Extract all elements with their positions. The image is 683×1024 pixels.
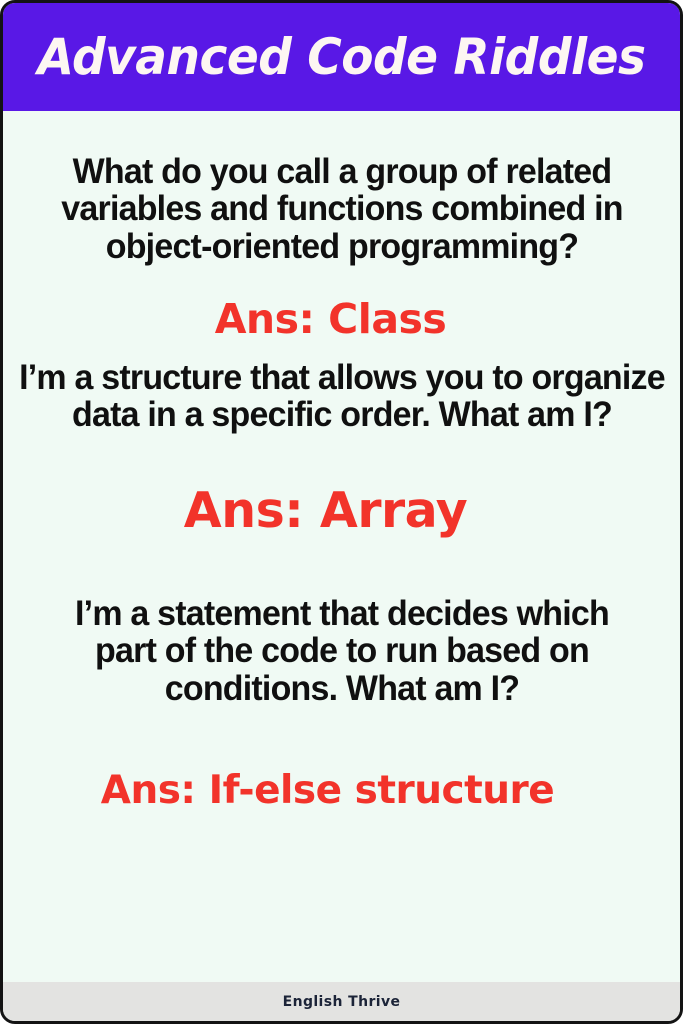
riddle-answer-2: Ans: Array [0, 486, 664, 535]
riddle-question-1: What do you call a group of related vari… [42, 153, 641, 265]
riddle-question-2: I’m a structure that allows you to organ… [18, 359, 664, 434]
riddle-block-3: I’m a statement that decides which part … [3, 595, 680, 810]
riddle-block-1: What do you call a group of related vari… [3, 153, 680, 340]
riddle-answer-3: Ans: If-else structure [0, 771, 666, 810]
card-header: Advanced Code Riddles [3, 3, 680, 111]
page-title: Advanced Code Riddles [38, 32, 646, 82]
riddle-question-3: I’m a statement that decides which part … [41, 595, 642, 707]
riddles-body: What do you call a group of related vari… [3, 111, 680, 982]
riddle-block-2: I’m a structure that allows you to organ… [3, 359, 680, 535]
riddle-card: Advanced Code Riddles What do you call a… [0, 0, 683, 1024]
brand-label: English Thrive [283, 995, 401, 1009]
riddle-answer-1: Ans: Class [0, 299, 669, 340]
card-footer: English Thrive [3, 982, 680, 1021]
